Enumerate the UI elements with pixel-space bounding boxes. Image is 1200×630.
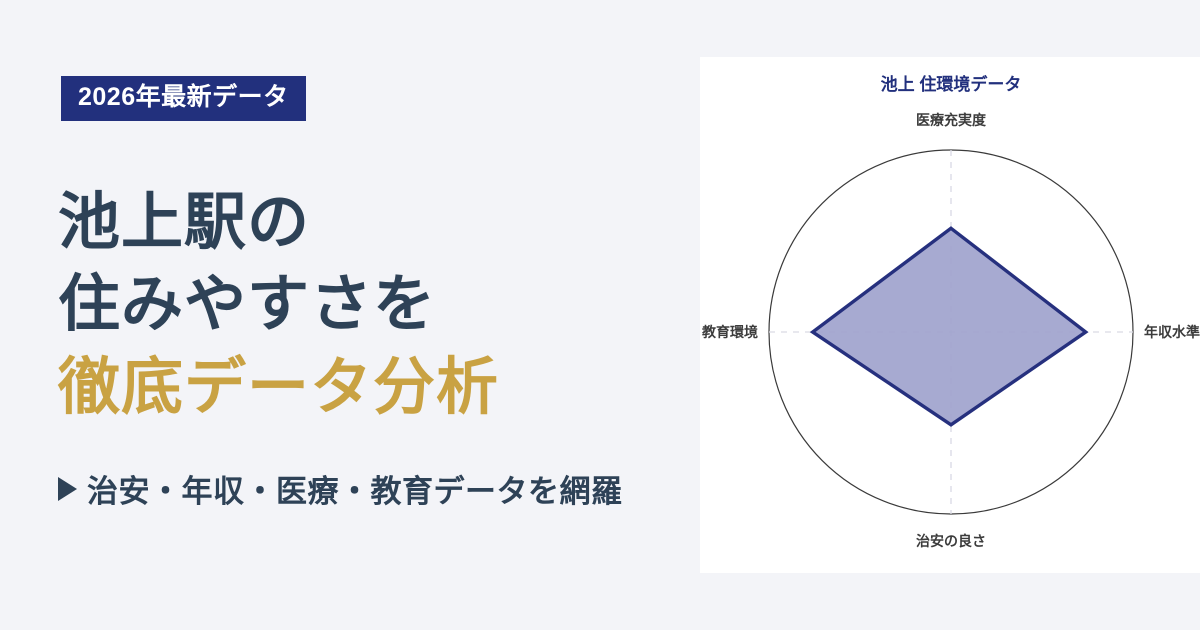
radar-chart: 池上 住環境データ 医療充実度 年収水準 治安の良さ 教育環境: [700, 57, 1200, 573]
page-title: 池上駅の 住みやすさを 徹底データ分析: [58, 182, 698, 429]
hero-banner: 2026年最新データ 池上駅の 住みやすさを 徹底データ分析 治安・年収・医療・…: [0, 0, 1200, 630]
chart-title: 池上 住環境データ: [881, 74, 1022, 94]
subtitle-label: 治安・年収・医療・教育データを網羅: [87, 466, 623, 511]
radar-axis-label-right: 年収水準: [1144, 324, 1200, 340]
play-triangle-icon: [58, 477, 77, 501]
headline-line-2: 住みやすさを: [58, 264, 698, 346]
headline-line-1: 池上駅の: [58, 182, 698, 264]
subtitle: 治安・年収・医療・教育データを網羅: [58, 466, 623, 511]
radar-axis-label-bottom: 治安の良さ: [916, 533, 986, 549]
status-badge: 2026年最新データ: [61, 76, 306, 121]
radar-axis-label-left: 教育環境: [702, 324, 758, 340]
radar-series-polygon: [813, 228, 1086, 424]
radar-axis-label-top: 医療充実度: [916, 112, 987, 128]
radar-chart-panel: 池上 住環境データ 医療充実度 年収水準 治安の良さ 教育環境: [700, 57, 1200, 573]
headline-line-3: 徹底データ分析: [58, 347, 698, 429]
hero-text-column: 2026年最新データ 池上駅の 住みやすさを 徹底データ分析 治安・年収・医療・…: [0, 0, 700, 630]
